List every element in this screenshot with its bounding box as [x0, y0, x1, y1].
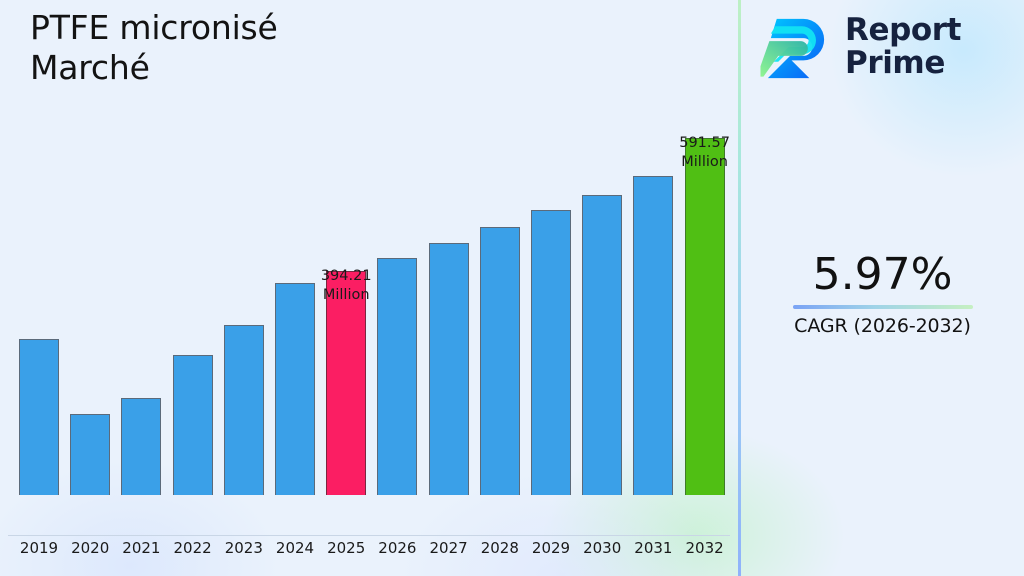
bar-chart-plot-area: 2019202020212022202320242025394.21 Milli…	[0, 0, 738, 536]
x-axis-tick-2026: 2026	[371, 539, 423, 557]
cagr-caption: CAGR (2026-2032)	[741, 315, 1024, 337]
bar-2027[interactable]	[429, 243, 469, 495]
bar-2026[interactable]	[377, 258, 417, 495]
x-axis-tick-2029: 2029	[525, 539, 577, 557]
bar-2020[interactable]	[70, 414, 110, 495]
x-axis-baseline	[8, 535, 730, 536]
x-axis-tick-2024: 2024	[269, 539, 321, 557]
bar-2030[interactable]	[582, 195, 622, 495]
brand-logo[interactable]: Report Prime	[759, 10, 961, 84]
bar-2022[interactable]	[173, 355, 213, 495]
x-axis-tick-2020: 2020	[64, 539, 116, 557]
bar-2019[interactable]	[19, 339, 59, 495]
cagr-value: 5.97%	[741, 252, 1024, 298]
bar-2028[interactable]	[480, 227, 520, 495]
cagr-block: 5.97% CAGR (2026-2032)	[741, 252, 1024, 337]
x-axis-tick-2031: 2031	[627, 539, 679, 557]
x-axis-tick-2030: 2030	[576, 539, 628, 557]
brand-name: Report Prime	[845, 14, 961, 79]
x-axis-tick-2027: 2027	[423, 539, 475, 557]
summary-panel: Report Prime 5.97% CAGR (2026-2032)	[741, 0, 1024, 576]
x-axis-tick-2025: 2025	[320, 539, 372, 557]
bar-2024[interactable]	[275, 283, 315, 495]
x-axis-tick-2019: 2019	[13, 539, 65, 557]
x-axis-tick-2023: 2023	[218, 539, 270, 557]
bar-2021[interactable]	[121, 398, 161, 495]
report-prime-logo-mark-icon	[759, 10, 833, 84]
bar-2025[interactable]	[326, 271, 366, 495]
bar-2032[interactable]	[685, 138, 725, 495]
x-axis-tick-2021: 2021	[115, 539, 167, 557]
bar-2029[interactable]	[531, 210, 571, 495]
x-axis-tick-2028: 2028	[474, 539, 526, 557]
x-axis-tick-2022: 2022	[167, 539, 219, 557]
bar-2023[interactable]	[224, 325, 264, 495]
chart-panel: 2019202020212022202320242025394.21 Milli…	[0, 0, 738, 576]
cagr-divider-rule	[793, 305, 973, 309]
x-axis-tick-2032: 2032	[679, 539, 731, 557]
bar-2031[interactable]	[633, 176, 673, 495]
